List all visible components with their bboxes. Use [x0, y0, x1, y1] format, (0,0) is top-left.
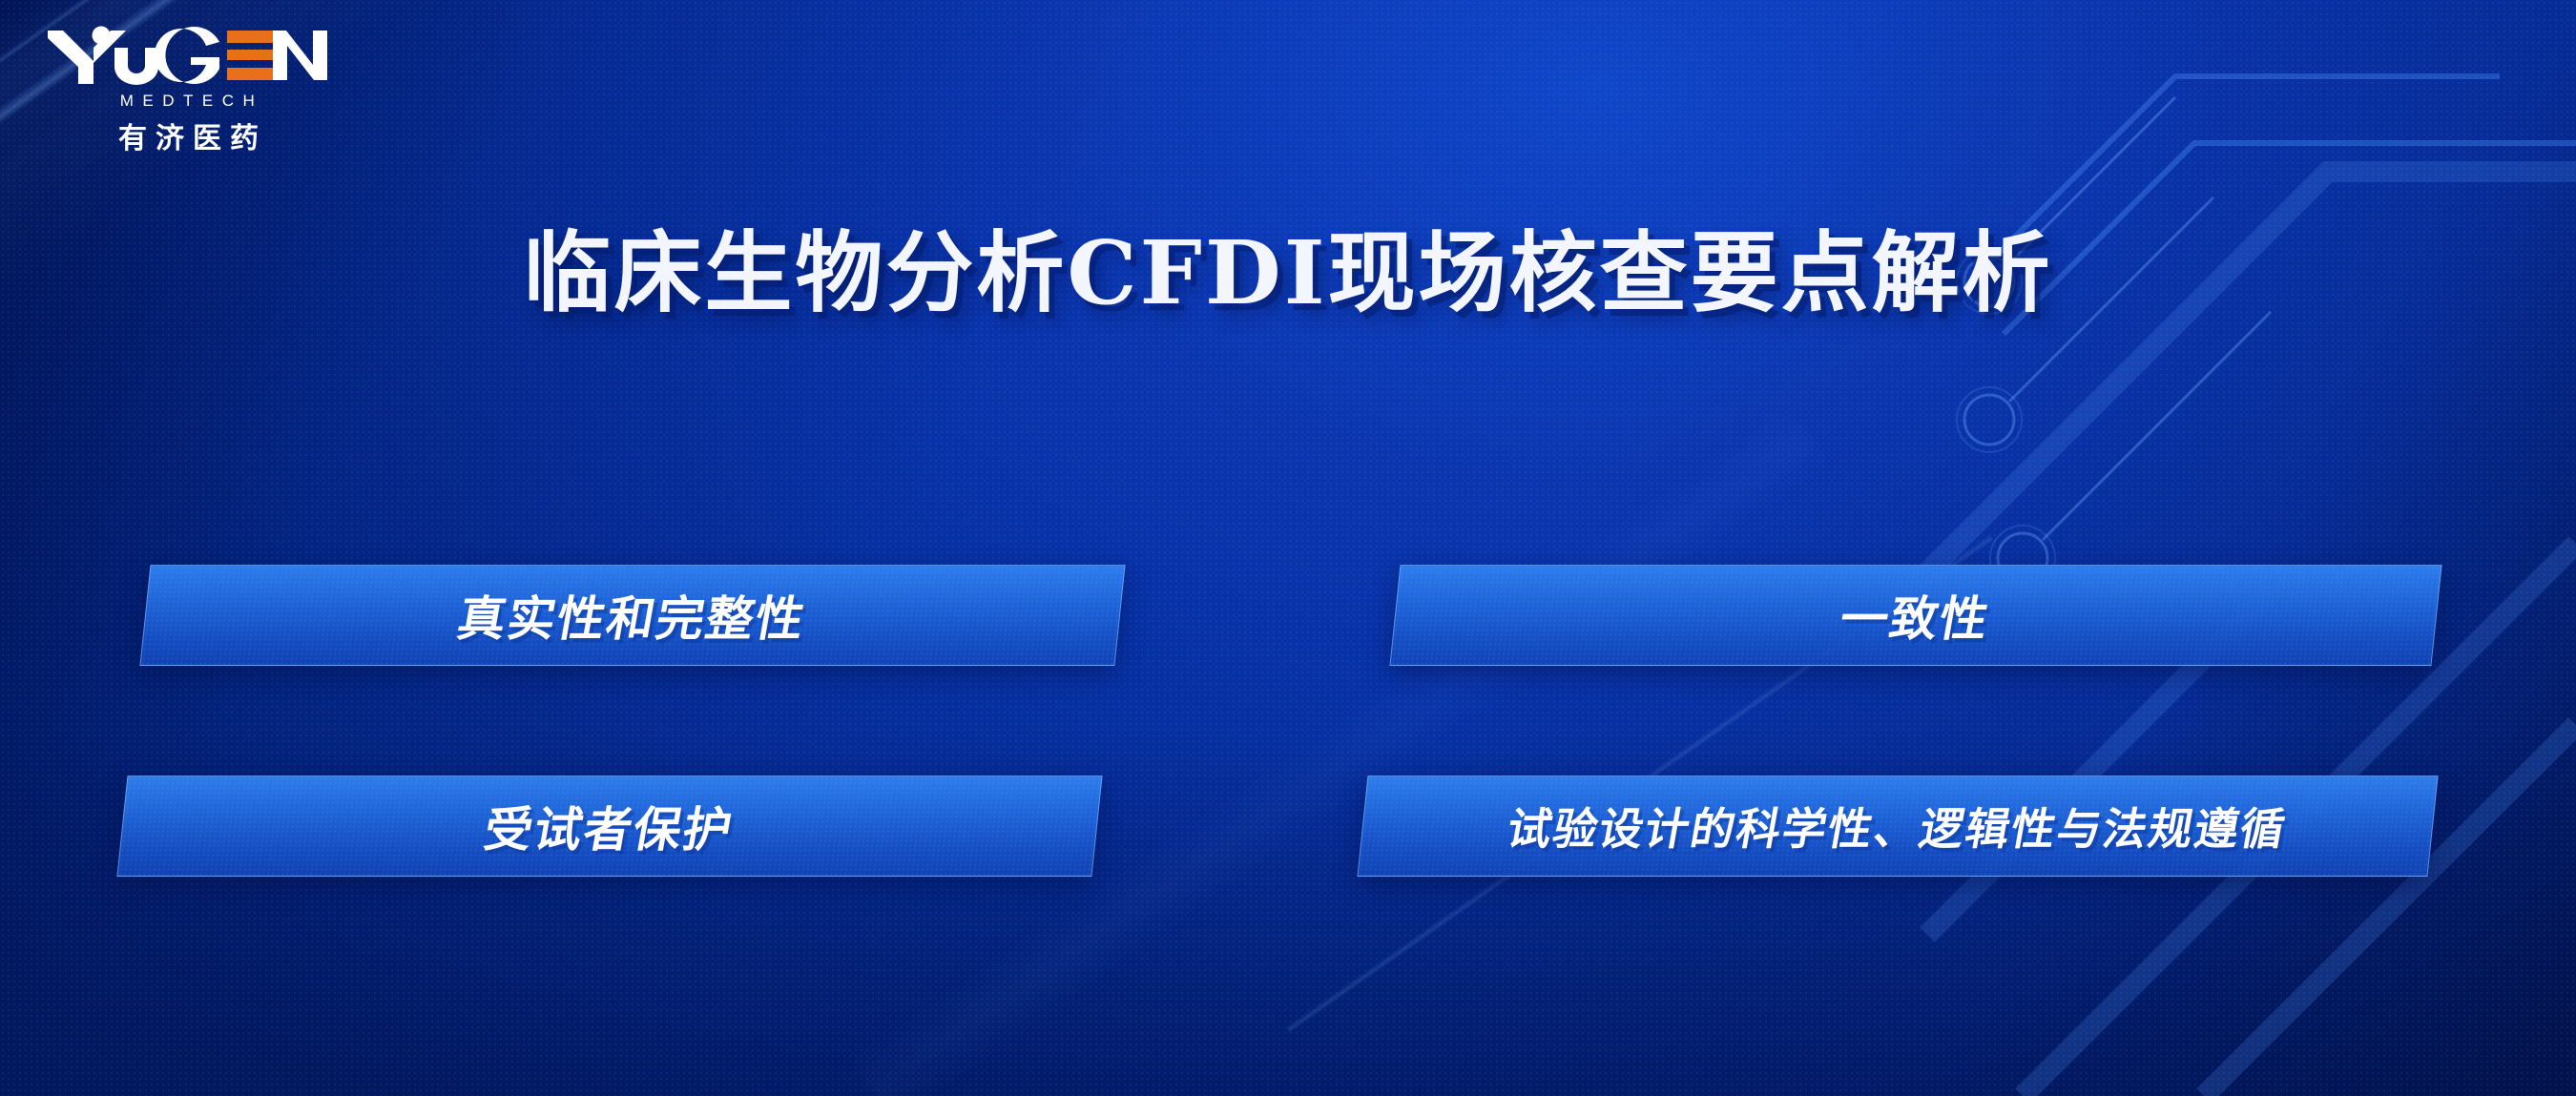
topic-panel-consistency[interactable]: 一致性 [1389, 565, 2441, 666]
topic-panel-label: 受试者保护 [480, 792, 740, 860]
topic-panel-authenticity[interactable]: 真实性和完整性 [139, 565, 1125, 666]
topic-panel-subject-protection[interactable]: 受试者保护 [116, 775, 1102, 877]
circuit-trace-icon [1889, 0, 2576, 1096]
topic-panel-study-design[interactable]: 试验设计的科学性、逻辑性与法规遵循 [1357, 775, 2438, 877]
slide-canvas: MEDTECH 有济医药 临床生物分析CFDI现场核查要点解析 真实性和完整性 … [0, 0, 2576, 1096]
yugen-wordmark-icon [46, 25, 332, 86]
page-title: 临床生物分析CFDI现场核查要点解析 [0, 202, 2576, 329]
logo-chinese-name: 有济医药 [46, 114, 332, 156]
topic-panel-label: 试验设计的科学性、逻辑性与法规遵循 [1503, 795, 2293, 858]
topic-panel-label: 真实性和完整性 [453, 581, 813, 650]
topic-panel-label: 一致性 [1836, 581, 1997, 650]
brand-logo[interactable]: MEDTECH 有济医药 [46, 25, 332, 156]
logo-subtitle: MEDTECH [46, 92, 332, 111]
